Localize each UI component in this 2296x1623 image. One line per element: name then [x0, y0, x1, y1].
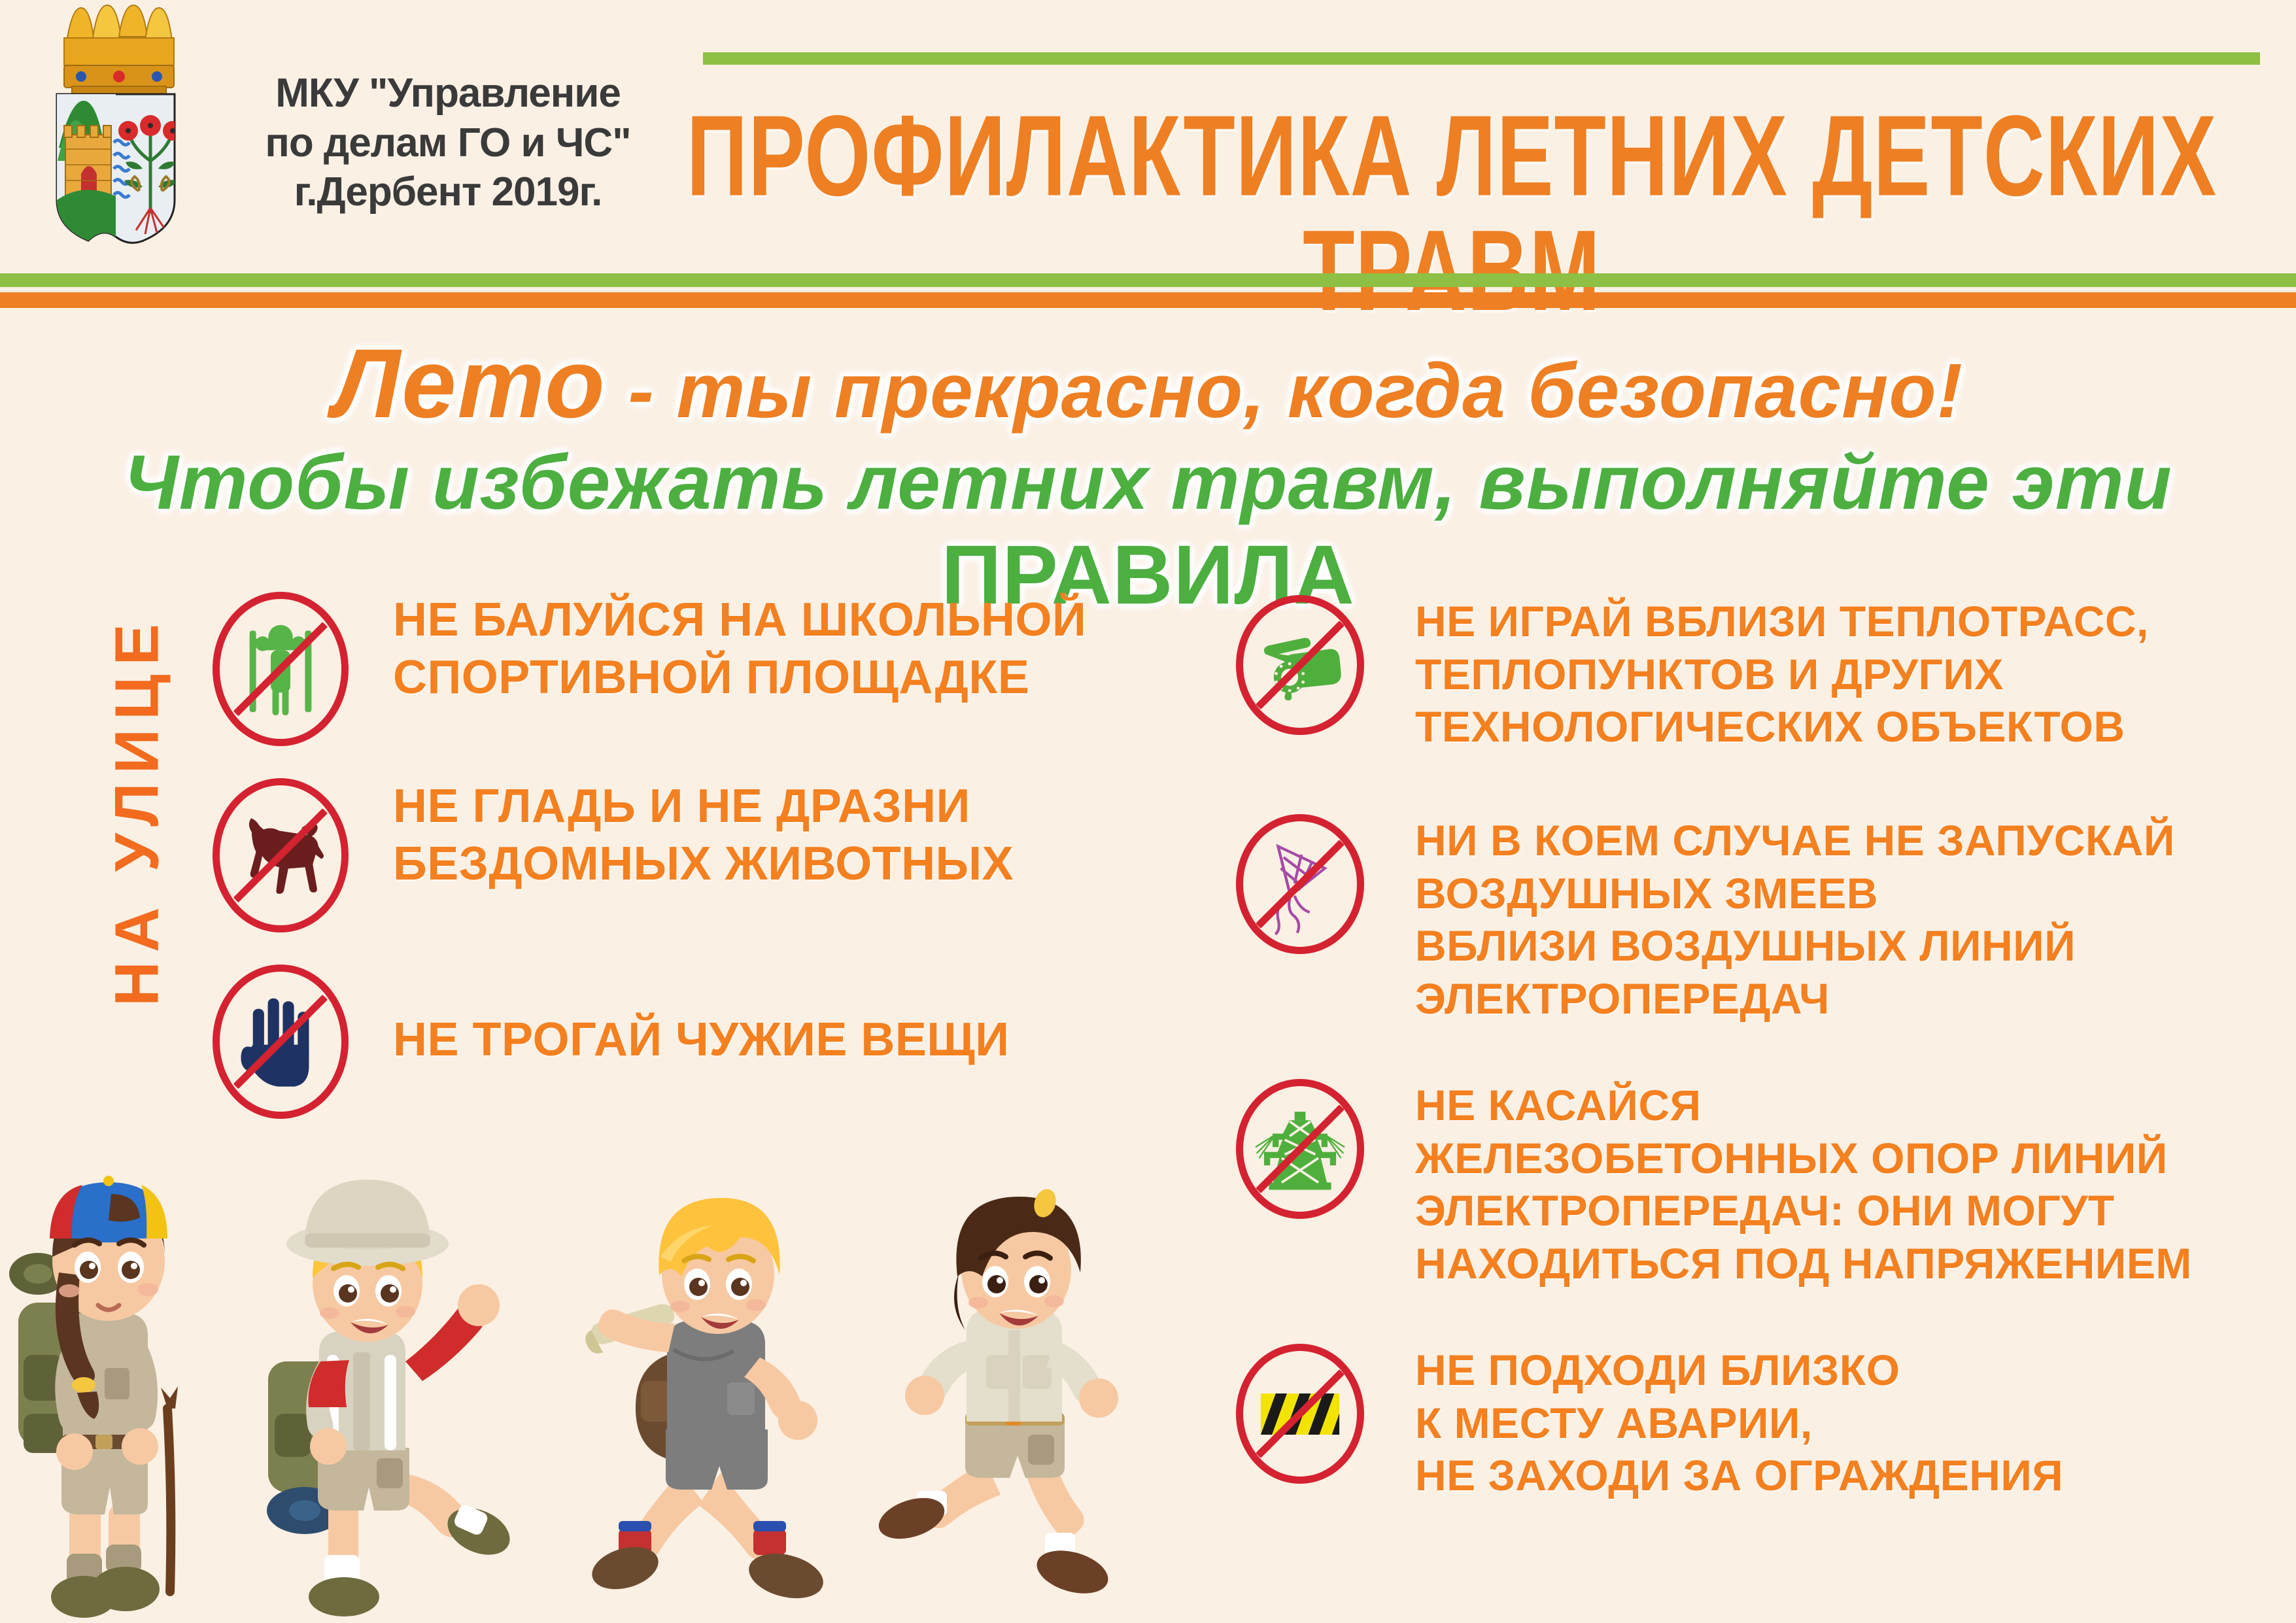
rule-text: НЕ ГЛАДЬ И НЕ ДРАЗНИ БЕЗДОМНЫХ ЖИВОТНЫХ: [393, 778, 1014, 893]
rule-text: НИ В КОЕМ СЛУЧАЕ НЕ ЗАПУСКАЙ ВОЗДУШНЫХ З…: [1415, 814, 2175, 1025]
rule-item: НЕ ТРОГАЙ ЧУЖИЕ ВЕЩИ: [213, 965, 1009, 1119]
no-kite-icon: [1236, 814, 1364, 954]
no-stray-dog-icon: [213, 778, 349, 932]
no-heat-pipe-icon: [1236, 595, 1364, 735]
divider-orange-bar: [0, 292, 2296, 308]
rule-item: НИ В КОЕМ СЛУЧАЕ НЕ ЗАПУСКАЙ ВОЗДУШНЫХ З…: [1236, 814, 2175, 1025]
organization-name: МКУ "Управление по делам ГО и ЧС" г.Дерб…: [262, 69, 634, 217]
no-touch-hand-icon: [213, 965, 349, 1119]
rule-item: НЕ ИГРАЙ ВБЛИЗИ ТЕПЛОТРАСС, ТЕПЛОПУНКТОВ…: [1236, 595, 2149, 753]
rule-text: НЕ ПОДХОДИ БЛИЗКО К МЕСТУ АВАРИИ, НЕ ЗАХ…: [1415, 1344, 2063, 1502]
coat-of-arms-icon: [27, 4, 201, 249]
no-playground-exercise-icon: [213, 592, 349, 746]
header-green-rule: [703, 52, 2260, 65]
section-label-outdoors: НА УЛИЦЕ: [102, 602, 173, 1020]
rule-text: НЕ ИГРАЙ ВБЛИЗИ ТЕПЛОТРАСС, ТЕПЛОПУНКТОВ…: [1415, 595, 2149, 753]
hiking-children-illustration: [0, 1135, 1177, 1623]
rule-item: НЕ КАСАЙСЯ ЖЕЛЕЗОБЕТОННЫХ ОПОР ЛИНИЙ ЭЛЕ…: [1236, 1079, 2192, 1290]
no-hazard-barrier-icon: [1236, 1344, 1364, 1484]
child-figure: [7, 1139, 281, 1623]
rule-text: НЕ БАЛУЙСЯ НА ШКОЛЬНОЙ СПОРТИВНОЙ ПЛОЩАД…: [393, 592, 1086, 707]
divider-green-bar: [0, 273, 2296, 287]
rule-item: НЕ БАЛУЙСЯ НА ШКОЛЬНОЙ СПОРТИВНОЙ ПЛОЩАД…: [213, 592, 1086, 746]
rule-text: НЕ ТРОГАЙ ЧУЖИЕ ВЕЩИ: [393, 1012, 1009, 1069]
child-figure: [876, 1165, 1164, 1623]
rule-item: НЕ ГЛАДЬ И НЕ ДРАЗНИ БЕЗДОМНЫХ ЖИВОТНЫХ: [213, 778, 1014, 932]
slogan-primary: Лето - ты прекрасно, когда безопасно!: [0, 327, 2296, 440]
child-figure: [582, 1165, 889, 1623]
slogan-rest: - ты прекрасно, когда безопасно!: [606, 348, 1963, 434]
slogan-secondary-part-a: Чтобы избежать летних травм, выполняйте …: [124, 439, 2172, 526]
rule-text: НЕ КАСАЙСЯ ЖЕЛЕЗОБЕТОННЫХ ОПОР ЛИНИЙ ЭЛЕ…: [1415, 1079, 2192, 1290]
child-figure: [248, 1165, 530, 1623]
slogan-lead-word: Лето: [333, 328, 606, 438]
poster-root: МКУ "Управление по делам ГО и ЧС" г.Дерб…: [0, 0, 2296, 1623]
rule-item: НЕ ПОДХОДИ БЛИЗКО К МЕСТУ АВАРИИ, НЕ ЗАХ…: [1236, 1344, 2063, 1502]
no-power-pylon-icon: [1236, 1079, 1364, 1219]
